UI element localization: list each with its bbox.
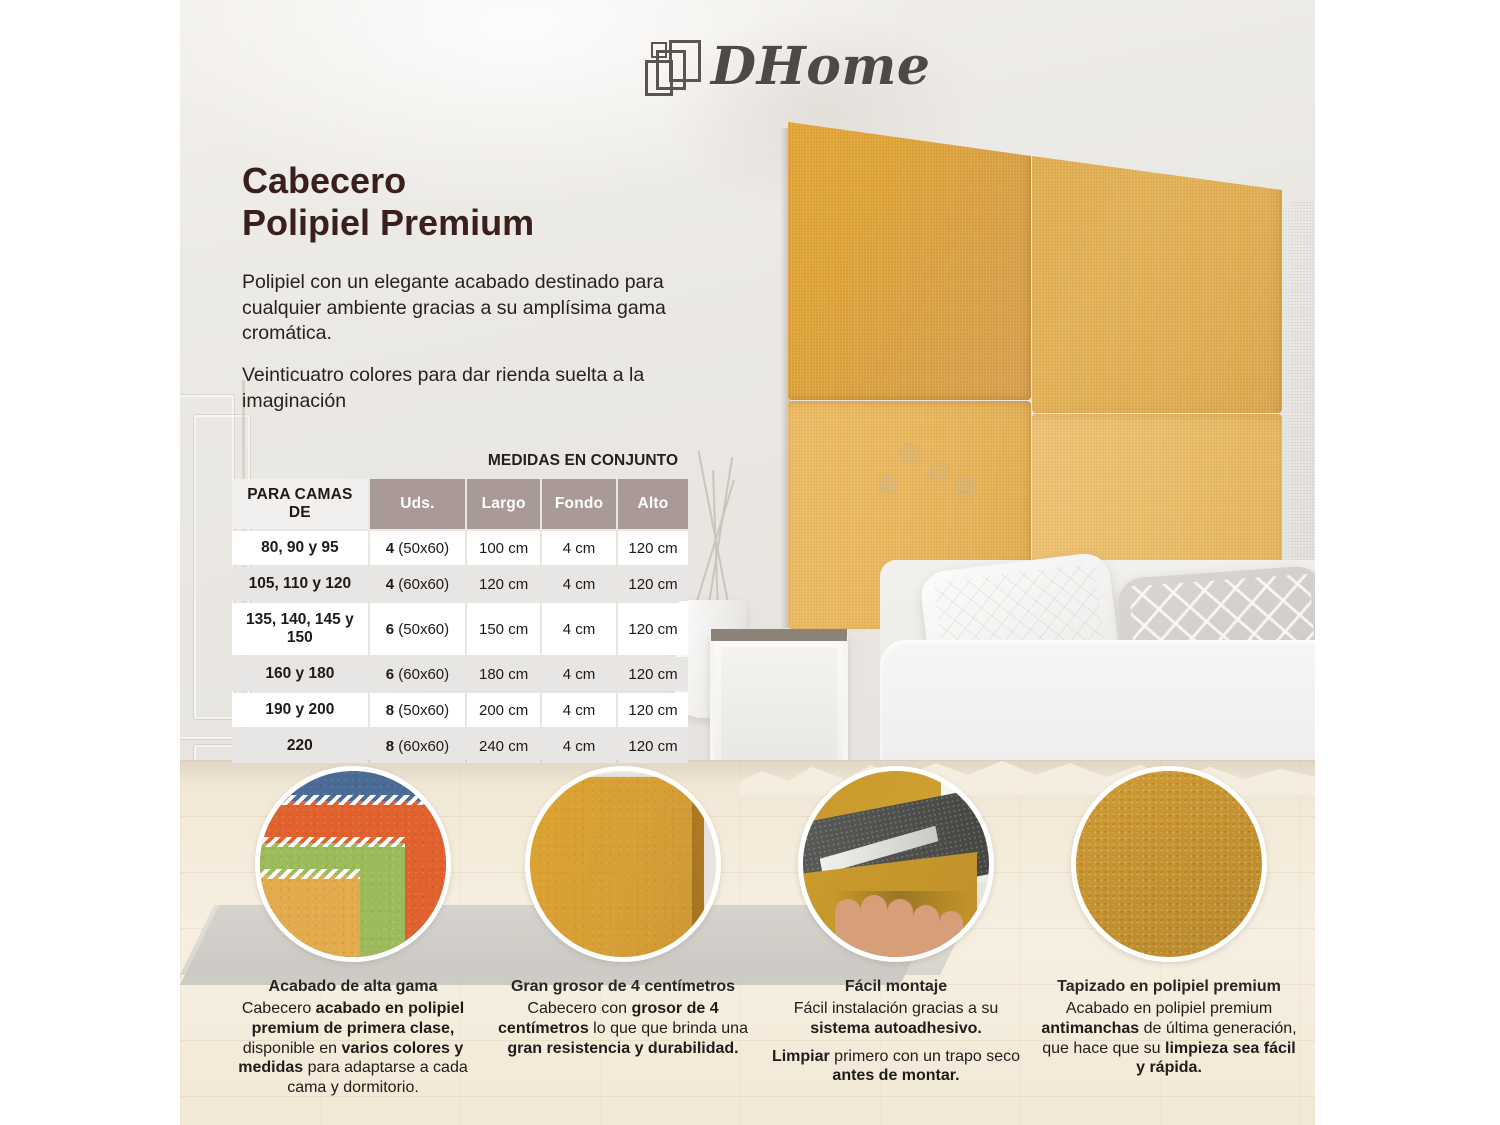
feature-paragraph: Acabado en polipiel premium antimanchas … <box>1038 999 1300 1078</box>
cell-bed-size: 160 y 180 <box>232 657 368 691</box>
cell-bed-size: 190 y 200 <box>232 693 368 727</box>
feature-paragraph: Cabecero acabado en polipiel premium de … <box>222 999 484 1098</box>
cell-fondo: 4 cm <box>542 729 616 763</box>
feature-title-2: Fácil montaje <box>765 978 1027 996</box>
feature-paragraph: Fácil instalación gracias a su sistema a… <box>765 999 1027 1039</box>
feature-paragraph: Limpiar primero con un trapo seco antes … <box>765 1047 1027 1087</box>
content-band: DHome Cabecero Polipiel Premium Polipiel… <box>180 0 1315 1125</box>
cell-units: 8 (60x60) <box>370 729 465 763</box>
cell-fondo: 4 cm <box>542 693 616 727</box>
spec-table: PARA CAMAS DE Uds. Largo Fondo Alto 80, … <box>230 477 690 765</box>
cell-units: 8 (50x60) <box>370 693 465 727</box>
intro-copy: Cabecero Polipiel Premium Polipiel con u… <box>242 160 682 414</box>
cell-units: 4 (50x60) <box>370 531 465 565</box>
cell-fondo: 4 cm <box>542 531 616 565</box>
feature-title-0: Acabado de alta gama <box>222 978 484 996</box>
feature-paragraph: Cabecero con grosor de 4 centímetros lo … <box>492 999 754 1058</box>
spec-header-units: Uds. <box>370 479 465 529</box>
spec-header-alto: Alto <box>618 479 688 529</box>
cell-largo: 200 cm <box>467 693 540 727</box>
cell-largo: 240 cm <box>467 729 540 763</box>
cell-bed-size: 135, 140, 145 y 150 <box>232 603 368 655</box>
feature-card-1: Gran grosor de 4 centímetros Cabecero co… <box>492 766 754 1058</box>
page-title-line2: Polipiel Premium <box>242 202 534 243</box>
table-row: 190 y 2008 (50x60)200 cm4 cm120 cm <box>232 693 688 727</box>
feature-card-0: Acabado de alta gama Cabecero acabado en… <box>222 766 484 1098</box>
cell-largo: 180 cm <box>467 657 540 691</box>
description-paragraph-1: Polipiel con un elegante acabado destina… <box>242 270 682 346</box>
cell-fondo: 4 cm <box>542 657 616 691</box>
spec-header-fondo: Fondo <box>542 479 616 529</box>
spec-table-body: 80, 90 y 954 (50x60)100 cm4 cm120 cm105,… <box>232 531 688 763</box>
table-row: 160 y 1806 (60x60)180 cm4 cm120 cm <box>232 657 688 691</box>
cell-largo: 100 cm <box>467 531 540 565</box>
leather-texture-icon <box>1071 766 1267 962</box>
table-row: 80, 90 y 954 (50x60)100 cm4 cm120 cm <box>232 531 688 565</box>
overlapping-squares-icon <box>645 38 701 96</box>
cell-fondo: 4 cm <box>542 567 616 601</box>
brand-name: DHome <box>711 36 931 97</box>
headboard-panel-top-right <box>1032 118 1282 413</box>
cell-alto: 120 cm <box>618 531 688 565</box>
feature-body-3: Acabado en polipiel premium antimanchas … <box>1038 999 1300 1078</box>
feature-body-0: Cabecero acabado en polipiel premium de … <box>222 999 484 1098</box>
cell-alto: 120 cm <box>618 567 688 601</box>
feature-title-3: Tapizado en polipiel premium <box>1038 978 1300 996</box>
feature-body-2: Fácil instalación gracias a su sistema a… <box>765 999 1027 1086</box>
cell-units: 6 (60x60) <box>370 657 465 691</box>
cell-bed-size: 105, 110 y 120 <box>232 567 368 601</box>
headboard-panel-top-left <box>788 118 1031 400</box>
feature-list: Acabado de alta gama Cabecero acabado en… <box>180 766 1315 1125</box>
table-row: 105, 110 y 1204 (60x60)120 cm4 cm120 cm <box>232 567 688 601</box>
cell-fondo: 4 cm <box>542 603 616 655</box>
cell-bed-size: 220 <box>232 729 368 763</box>
cell-units: 6 (50x60) <box>370 603 465 655</box>
spec-table-super-header: MEDIDAS EN CONJUNTO <box>478 452 688 470</box>
spec-table-wrapper: MEDIDAS EN CONJUNTO PARA CAMAS DE Uds. L… <box>230 452 690 765</box>
brand-logo[interactable]: DHome <box>645 36 931 97</box>
page-title: Cabecero Polipiel Premium <box>242 160 682 244</box>
feature-card-3: Tapizado en polipiel premium Acabado en … <box>1038 766 1300 1078</box>
feature-title-1: Gran grosor de 4 centímetros <box>492 978 754 996</box>
feature-body-1: Cabecero con grosor de 4 centímetros lo … <box>492 999 754 1058</box>
feature-card-2: Fácil montaje Fácil instalación gracias … <box>765 766 1027 1086</box>
description-paragraph-2: Veinticuatro colores para dar rienda sue… <box>242 363 682 414</box>
page-title-line1: Cabecero <box>242 160 406 201</box>
cell-alto: 120 cm <box>618 603 688 655</box>
cell-units: 4 (60x60) <box>370 567 465 601</box>
adhesive-install-icon <box>798 766 994 962</box>
cell-bed-size: 80, 90 y 95 <box>232 531 368 565</box>
infographic-canvas: DHome Cabecero Polipiel Premium Polipiel… <box>0 0 1500 1125</box>
cell-alto: 120 cm <box>618 693 688 727</box>
spec-header-bed-size: PARA CAMAS DE <box>232 479 368 529</box>
cell-largo: 150 cm <box>467 603 540 655</box>
spec-header-largo: Largo <box>467 479 540 529</box>
cell-largo: 120 cm <box>467 567 540 601</box>
fabric-swatches-icon <box>255 766 451 962</box>
table-row: 2208 (60x60)240 cm4 cm120 cm <box>232 729 688 763</box>
cell-alto: 120 cm <box>618 657 688 691</box>
cell-alto: 120 cm <box>618 729 688 763</box>
table-row: 135, 140, 145 y 1506 (50x60)150 cm4 cm12… <box>232 603 688 655</box>
panel-thickness-icon <box>525 766 721 962</box>
spec-table-header-row: PARA CAMAS DE Uds. Largo Fondo Alto <box>232 479 688 529</box>
